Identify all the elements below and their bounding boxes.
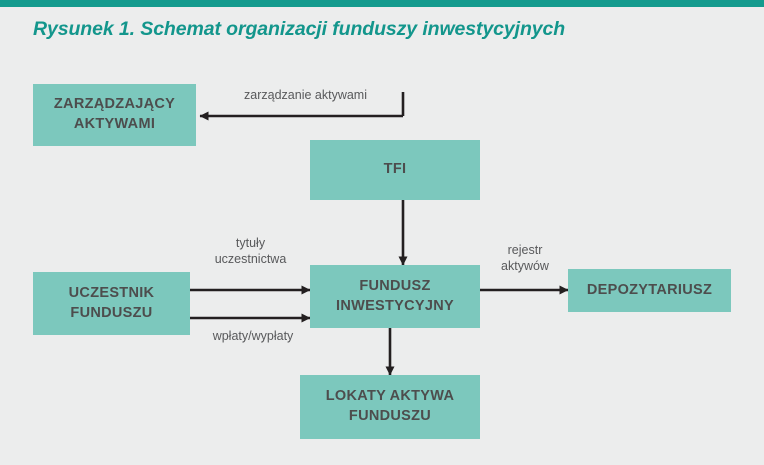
node-label: DEPOZYTARIUSZ [587, 281, 712, 301]
node-label: TFI [384, 160, 407, 180]
node-depozytariusz: DEPOZYTARIUSZ [568, 269, 731, 312]
node-uczestnik-funduszu: UCZESTNIK FUNDUSZU [33, 272, 190, 335]
edge-label-wplaty-wyplaty: wpłaty/wypłaty [198, 329, 308, 345]
edge-label-tytuly-uczestnictwa: tytuły uczestnictwa [198, 236, 303, 267]
edge-label-zarzadzanie-aktywami: zarządzanie aktywami [218, 88, 393, 104]
node-label: ZARZĄDZAJĄCY AKTYWAMI [33, 95, 196, 134]
node-label: UCZESTNIK FUNDUSZU [33, 284, 190, 323]
diagram-canvas: ZARZĄDZAJĄCY AKTYWAMI TFI UCZESTNIK FUND… [0, 0, 764, 465]
node-fundusz-inwestycyjny: FUNDUSZ INWESTYCYJNY [310, 265, 480, 328]
node-lokaty-aktywa-funduszu: LOKATY AKTYWA FUNDUSZU [300, 375, 480, 439]
node-zarzadzajacy-aktywami: ZARZĄDZAJĄCY AKTYWAMI [33, 84, 196, 146]
node-label: FUNDUSZ INWESTYCYJNY [310, 277, 480, 316]
edge-label-rejestr-aktywow: rejestr aktywów [480, 243, 570, 274]
node-label: LOKATY AKTYWA FUNDUSZU [300, 387, 480, 426]
node-tfi: TFI [310, 140, 480, 200]
